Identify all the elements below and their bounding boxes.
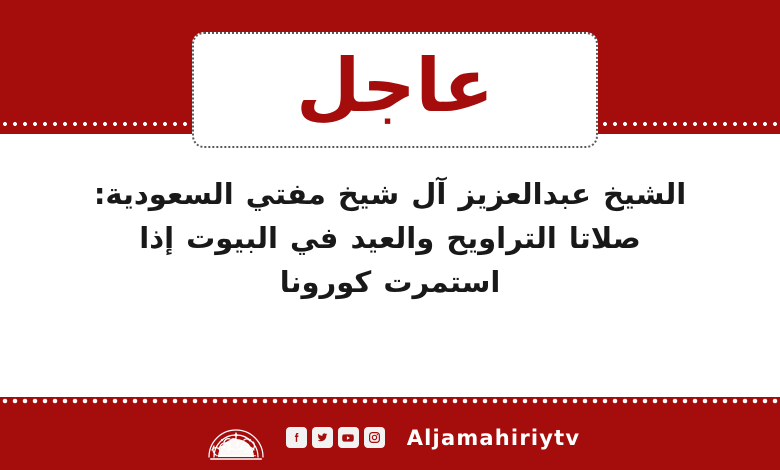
breaking-news-card: عاجل الشيخ عبدالعزيز آل شيخ مفتي السعودي…: [0, 0, 780, 470]
facebook-icon[interactable]: [286, 427, 307, 448]
youtube-icon[interactable]: [338, 427, 359, 448]
urgent-badge-box: عاجل: [192, 32, 598, 148]
headline-area: الشيخ عبدالعزيز آل شيخ مفتي السعودية: صل…: [0, 150, 780, 397]
twitter-icon[interactable]: [312, 427, 333, 448]
brand-name-label: Aljamahiriytv: [407, 426, 581, 450]
instagram-icon[interactable]: [364, 427, 385, 448]
headline-line-2: صلاتا التراويح والعيد في البيوت إذا: [30, 216, 750, 260]
headline-line-3: استمرت كورونا: [30, 260, 750, 304]
footer-red-band: Aljamahiriytv: [0, 397, 780, 470]
social-icon-row: [286, 427, 385, 448]
footer-content: Aljamahiriytv: [0, 405, 780, 470]
headline-text: الشيخ عبدالعزيز آل شيخ مفتي السعودية: صل…: [30, 172, 750, 304]
headline-line-1: الشيخ عبدالعزيز آل شيخ مفتي السعودية:: [30, 172, 750, 216]
footer-dotted-divider: [0, 397, 780, 405]
brand-logo: [200, 415, 272, 461]
urgent-label: عاجل: [296, 49, 494, 123]
